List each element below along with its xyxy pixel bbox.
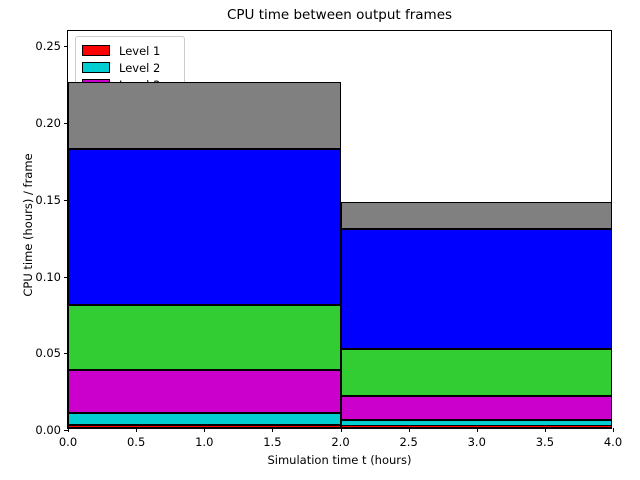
bar-segment[interactable] <box>341 396 612 420</box>
x-tick-mark <box>272 428 273 432</box>
legend-label: Level 1 <box>119 44 160 58</box>
x-tick-mark <box>68 428 69 432</box>
x-tick-label: 0.5 <box>127 435 145 449</box>
y-tick-label: 0.25 <box>35 39 61 53</box>
x-tick-label: 1.0 <box>195 435 213 449</box>
bar-segment[interactable] <box>68 305 341 370</box>
x-axis-label: Simulation time t (hours) <box>67 453 612 467</box>
y-tick-label: 0.20 <box>35 116 61 130</box>
plot-inner <box>68 31 611 428</box>
legend-swatch-icon <box>82 45 110 56</box>
bar-stack[interactable] <box>341 31 612 428</box>
x-tick-mark <box>545 428 546 432</box>
y-tick-label: 0.15 <box>35 193 61 207</box>
y-tick-mark <box>64 46 68 47</box>
x-tick-mark <box>613 428 614 432</box>
x-tick-label: 3.0 <box>468 435 486 449</box>
plot-area: 0.000.050.100.150.200.25 0.00.51.01.52.0… <box>67 30 612 429</box>
bar-segment[interactable] <box>68 149 341 305</box>
y-tick-label: 0.00 <box>35 423 61 437</box>
y-axis-label: CPU time (hours) / frame <box>21 25 35 425</box>
legend-item[interactable]: Level 2 <box>82 59 175 76</box>
legend-item[interactable]: Level 1 <box>82 42 175 59</box>
x-tick-mark <box>341 428 342 432</box>
legend-swatch-icon <box>82 62 110 73</box>
x-tick-label: 4.0 <box>604 435 622 449</box>
bar-segment[interactable] <box>341 229 612 349</box>
x-tick-mark <box>409 428 410 432</box>
y-tick-label: 0.10 <box>35 270 61 284</box>
x-tick-mark <box>204 428 205 432</box>
x-tick-label: 2.5 <box>399 435 417 449</box>
chart-title: CPU time between output frames <box>67 6 612 24</box>
bar-segment[interactable] <box>68 82 341 150</box>
bar-segment[interactable] <box>341 202 612 228</box>
figure-canvas: CPU time between output frames CPU time … <box>0 0 640 480</box>
x-tick-label: 2.0 <box>331 435 349 449</box>
bar-segment[interactable] <box>68 425 341 428</box>
x-tick-label: 1.5 <box>263 435 281 449</box>
x-tick-label: 0.0 <box>59 435 77 449</box>
legend-label: Level 2 <box>119 61 160 75</box>
x-tick-mark <box>477 428 478 432</box>
bar-segment[interactable] <box>341 349 612 396</box>
bar-segment[interactable] <box>68 413 341 425</box>
bar-stack[interactable] <box>68 31 341 428</box>
bar-segment[interactable] <box>68 370 341 412</box>
x-tick-label: 3.5 <box>536 435 554 449</box>
x-tick-mark <box>136 428 137 432</box>
bar-segment[interactable] <box>341 425 612 428</box>
y-tick-label: 0.05 <box>35 346 61 360</box>
